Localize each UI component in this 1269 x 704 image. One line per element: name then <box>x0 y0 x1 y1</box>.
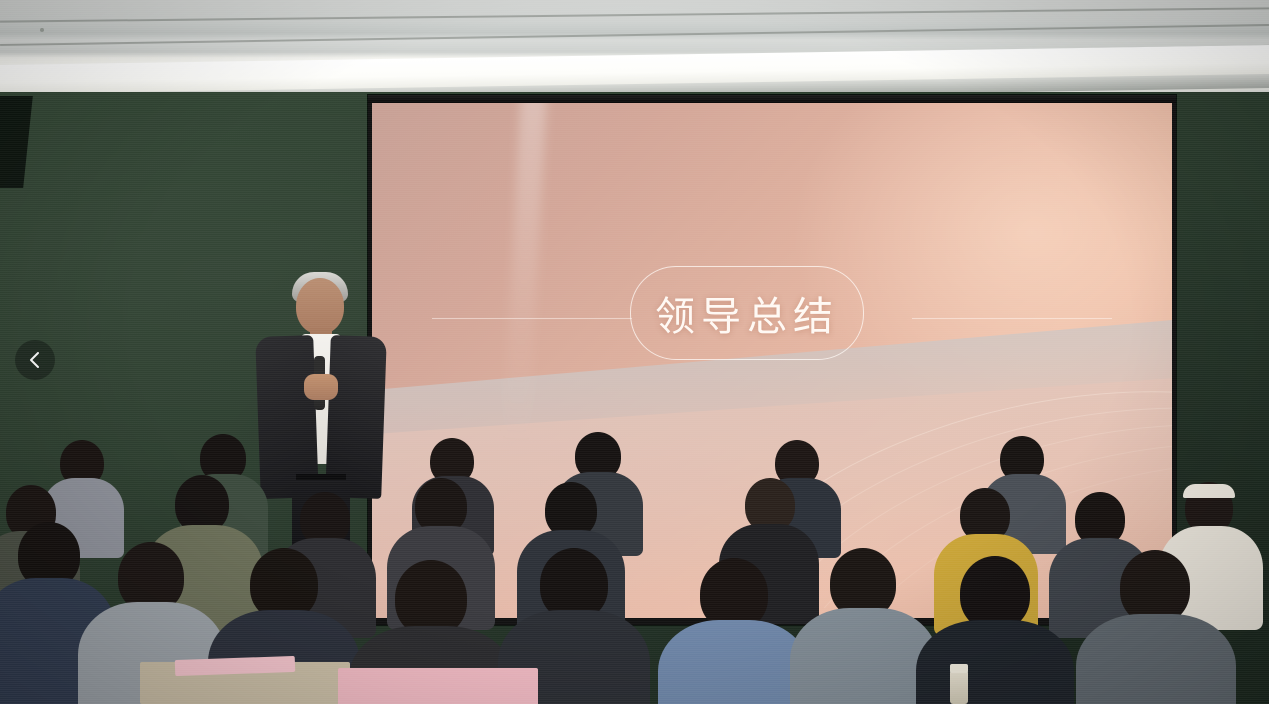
audience: 伟 <box>0 430 1269 704</box>
ceiling-fixture-dot <box>40 28 44 32</box>
slide-title-pill: 领导总结 <box>630 266 864 360</box>
desk-surface <box>338 668 538 704</box>
ceiling-seam <box>0 7 1269 22</box>
projection-screen-top-bar <box>368 95 1176 103</box>
person-head <box>1120 550 1190 624</box>
person-head <box>395 560 467 636</box>
person-body <box>658 620 810 704</box>
title-rule-right <box>912 318 1112 319</box>
ceiling-seam <box>0 24 1269 46</box>
person-head <box>960 556 1030 630</box>
ceiling <box>0 0 1269 100</box>
screenshot-stage: 领导总结 <box>0 0 1269 704</box>
presenter-head <box>296 278 344 334</box>
water-bottle <box>950 670 968 704</box>
chevron-left-icon <box>28 350 42 370</box>
presenter-hands <box>304 374 338 400</box>
slide-title: 领导总结 <box>655 284 839 342</box>
title-rule-left <box>432 318 632 319</box>
water-bottle-cap <box>950 664 968 673</box>
previous-slide-button[interactable] <box>15 340 55 380</box>
person-body <box>1076 614 1236 704</box>
person-body <box>916 620 1074 704</box>
person-headband <box>1183 484 1235 498</box>
